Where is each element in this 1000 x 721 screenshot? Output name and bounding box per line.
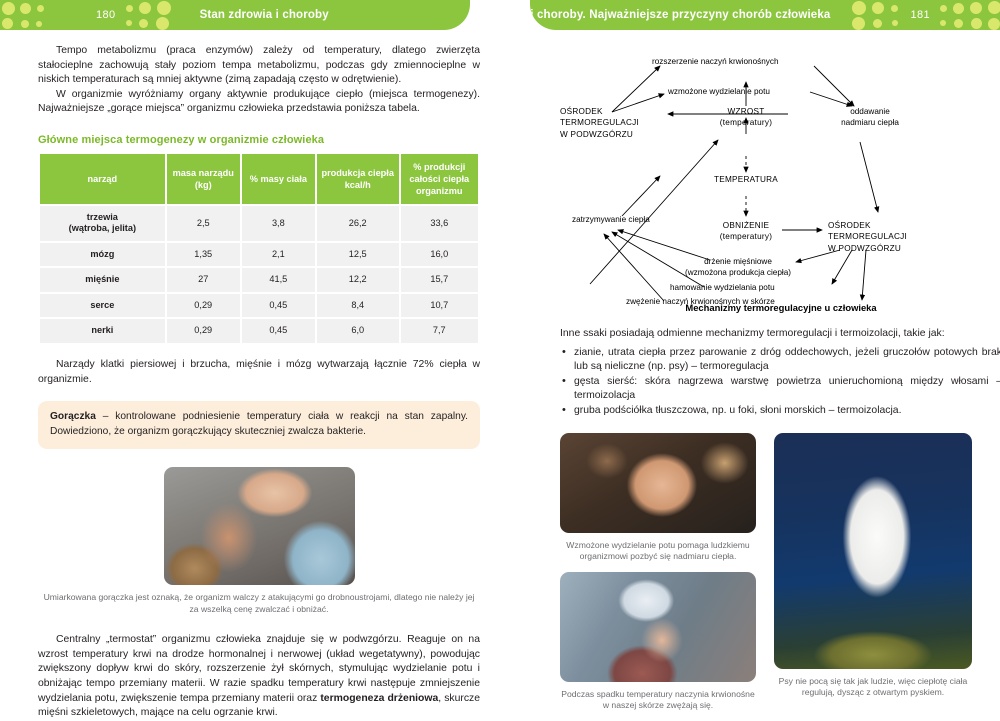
paragraph-organs-72: Narządy klatki piersiowej i brzucha, mię…	[38, 358, 480, 387]
table-row: mózg 1,35 2,1 12,5 16,0	[40, 243, 478, 267]
table-header-cell: narząd	[40, 154, 165, 204]
table-row: trzewia (wątroba, jelita) 2,5 3,8 26,2 3…	[40, 206, 478, 241]
page-number-left: 180	[96, 9, 116, 21]
table-cell-organ: serce	[40, 294, 165, 318]
header-band-right: Definicja zdrowia i choroby. Najważniejs…	[530, 0, 1000, 30]
header-line: narząd	[88, 174, 118, 184]
node-line: oddawanie	[850, 107, 890, 116]
paragraph-metabolism: Tempo metabolizmu (praca enzymów) zależy…	[38, 44, 480, 88]
node-center-bottom: OŚRODEK TERMOREGULACJI W PODWZGÓRZU	[828, 220, 907, 254]
table-title: Główne miejsca termogenezy w organizmie …	[38, 134, 480, 146]
sick-child-photo	[164, 467, 355, 585]
paragraph-bold-term: termogeneza drżeniowa	[320, 693, 438, 704]
photo-column-left: Wzmożone wydzielanie potu pomaga ludzkie…	[560, 433, 756, 712]
table-row: mięśnie 27 41,5 12,2 15,7	[40, 268, 478, 292]
table-cell-mass: 2,5	[167, 206, 240, 241]
table-cell-heat: 12,5	[317, 243, 399, 267]
mechanisms-list: zianie, utrata ciepła przez parowanie z …	[560, 346, 1000, 419]
organ-line: (wątroba, jelita)	[69, 223, 136, 233]
node-line: OBNIŻENIE	[723, 221, 769, 230]
white-dog-photo	[774, 433, 972, 669]
node-vasodilation: rozszerzenie naczyń krwionośnych	[652, 56, 779, 67]
table-cell-pct-body: 41,5	[242, 268, 315, 292]
table-header-cell: produkcja ciepła kcal/h	[317, 154, 399, 204]
sweating-woman-photo	[560, 433, 756, 533]
node-temperature: TEMPERATURA	[710, 174, 782, 185]
table-cell-mass: 0,29	[167, 294, 240, 318]
table-cell-mass: 1,35	[167, 243, 240, 267]
photo-grid: Wzmożone wydzielanie potu pomaga ludzkie…	[560, 433, 1000, 712]
header-line: całości ciepła	[409, 174, 469, 184]
cold-girl-caption: Podczas spadku temperatury naczynia krwi…	[560, 689, 756, 712]
header-dots-right-1	[848, 0, 904, 30]
table-cell-pct-body: 0,45	[242, 294, 315, 318]
node-shivering: drżenie mięśniowe (wzmożona produkcja ci…	[668, 256, 808, 279]
table-header-cell: % produkcji całości ciepła organizmu	[401, 154, 478, 204]
header-dots-left	[0, 0, 90, 30]
sick-child-caption: Umiarkowana gorączka jest oznaką, że org…	[38, 592, 480, 615]
table-cell-mass: 0,29	[167, 319, 240, 343]
table-cell-pct-heat: 7,7	[401, 319, 478, 343]
node-sweating: wzmożone wydzielanie potu	[668, 86, 770, 97]
header-line: masa narządu	[173, 168, 234, 178]
header-line: produkcja ciepła	[321, 168, 394, 178]
node-line: drżenie mięśniowe	[704, 257, 772, 266]
table-cell-pct-heat: 33,6	[401, 206, 478, 241]
header-band-left: 180 Stan zdrowia i choroby	[0, 0, 470, 30]
table-cell-pct-heat: 16,0	[401, 243, 478, 267]
table-cell-pct-heat: 15,7	[401, 268, 478, 292]
node-decrease: OBNIŻENIE (temperatury)	[710, 220, 782, 243]
cold-girl-photo	[560, 572, 756, 682]
header-line: (kg)	[195, 180, 212, 190]
node-line: nadmiaru ciepła	[841, 118, 899, 127]
table-header-row: narząd masa narządu (kg) % masy ciała pr…	[40, 154, 478, 204]
node-sweat-inhibition: hamowanie wydzielania potu	[670, 282, 775, 293]
header-line: organizmu	[416, 186, 462, 196]
definition-callout: Gorączka – kontrolowane podniesienie tem…	[38, 401, 480, 449]
header-title-left: Stan zdrowia i choroby	[200, 9, 329, 21]
header-title-right: Definicja zdrowia i choroby. Najważniejs…	[530, 9, 830, 21]
callout-text: – kontrolowane podniesienie temperatury …	[50, 411, 468, 436]
left-column: Tempo metabolizmu (praca enzymów) zależy…	[38, 44, 480, 721]
table-row: nerki 0,29 0,45 6,0 7,7	[40, 319, 478, 343]
paragraph-other-mammals: Inne ssaki posiadają odmienne mechanizmy…	[560, 327, 1000, 342]
table-cell-heat: 8,4	[317, 294, 399, 318]
table-cell-heat: 6,0	[317, 319, 399, 343]
list-item: zianie, utrata ciepła przez parowanie z …	[560, 346, 1000, 375]
thermoregulation-diagram: rozszerzenie naczyń krwionośnych wzmożon…	[560, 44, 1000, 309]
paragraph-thermostat: Centralny „termostat” organizmu człowiek…	[38, 633, 480, 721]
photo-column-right: Psy nie pocą się tak jak ludzie, więc ci…	[774, 433, 972, 712]
node-line: W PODWZGÓRZU	[828, 244, 901, 253]
white-dog-caption: Psy nie pocą się tak jak ludzie, więc ci…	[774, 676, 972, 699]
table-cell-pct-body: 3,8	[242, 206, 315, 241]
node-line: OŚRODEK	[560, 107, 603, 116]
header-line: % masy ciała	[250, 174, 307, 184]
list-item: gęsta sierść: skóra nagrzewa warstwę pow…	[560, 375, 1000, 404]
thermogenesis-table: narząd masa narządu (kg) % masy ciała pr…	[38, 152, 480, 345]
header-dots-right-2	[938, 0, 1000, 30]
node-line: (temperatury)	[720, 232, 772, 241]
table-cell-pct-body: 2,1	[242, 243, 315, 267]
node-center-top: OŚRODEK TERMOREGULACJI W PODWZGÓRZU	[560, 106, 639, 140]
node-line: (temperatury)	[720, 118, 772, 127]
organ-line: trzewia	[87, 212, 118, 222]
table-cell-mass: 27	[167, 268, 240, 292]
header-line: % produkcji	[413, 162, 465, 172]
node-heat-retention: zatrzymywanie ciepła	[572, 214, 650, 225]
node-increase: WZROST (temperatury)	[710, 106, 782, 129]
header-dots-left-2	[122, 0, 178, 30]
table-cell-heat: 26,2	[317, 206, 399, 241]
header-line: kcal/h	[345, 180, 371, 190]
diagram-caption: Mechanizmy termoregulacyjne u człowieka	[560, 302, 1000, 313]
node-line: TERMOREGULACJI	[560, 118, 639, 127]
table-row: serce 0,29 0,45 8,4 10,7	[40, 294, 478, 318]
node-line: WZROST	[728, 107, 765, 116]
paragraph-thermogenesis: W organizmie wyróżniamy organy aktywnie …	[38, 88, 480, 117]
right-column: rozszerzenie naczyń krwionośnych wzmożon…	[560, 44, 1000, 712]
list-item: gruba podściółka tłuszczowa, np. u foki,…	[560, 404, 1000, 419]
node-line: TERMOREGULACJI	[828, 232, 907, 241]
node-heat-release: oddawanie nadmiaru ciepła	[828, 106, 912, 129]
page-number-right: 181	[910, 9, 930, 21]
table-header-cell: % masy ciała	[242, 154, 315, 204]
table-cell-organ: trzewia (wątroba, jelita)	[40, 206, 165, 241]
table-cell-pct-heat: 10,7	[401, 294, 478, 318]
table-cell-organ: nerki	[40, 319, 165, 343]
node-line: (wzmożona produkcja ciepła)	[685, 268, 791, 277]
node-line: OŚRODEK	[828, 221, 871, 230]
table-cell-pct-body: 0,45	[242, 319, 315, 343]
callout-term: Gorączka	[50, 411, 96, 422]
sweating-woman-caption: Wzmożone wydzielanie potu pomaga ludzkie…	[560, 540, 756, 563]
table-cell-organ: mięśnie	[40, 268, 165, 292]
table-header-cell: masa narządu (kg)	[167, 154, 240, 204]
table-cell-heat: 12,2	[317, 268, 399, 292]
node-line: W PODWZGÓRZU	[560, 130, 633, 139]
table-cell-organ: mózg	[40, 243, 165, 267]
